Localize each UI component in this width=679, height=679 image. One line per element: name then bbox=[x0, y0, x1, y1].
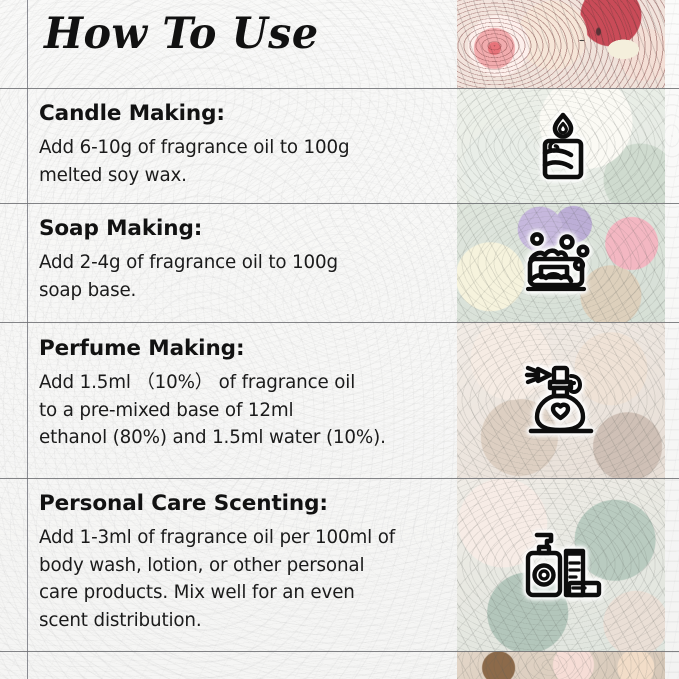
body-line: Add 1-3ml of fragrance oil per 100ml of bbox=[39, 524, 439, 552]
body-line: Add 1.5ml （10%） of fragrance oil bbox=[39, 369, 439, 397]
personal-care-products-icon bbox=[517, 522, 609, 606]
section-body-perfume-making: Add 1.5ml （10%） of fragrance oil to a pr… bbox=[39, 369, 439, 452]
divider-rule-4 bbox=[0, 478, 679, 479]
section-body-personal-care-scenting: Add 1-3ml of fragrance oil per 100ml of … bbox=[39, 524, 439, 634]
divider-rule-3 bbox=[0, 322, 679, 323]
section-soap-making: Soap Making: Add 2-4g of fragrance oil t… bbox=[39, 216, 439, 304]
section-heading-candle-making: Candle Making: bbox=[39, 101, 439, 126]
divider-rule-1 bbox=[0, 88, 679, 89]
photo-book-and-flowers bbox=[457, 651, 665, 679]
body-line: melted soy wax. bbox=[39, 162, 439, 190]
soap-bar-icon bbox=[517, 221, 609, 305]
section-heading-personal-care-scenting: Personal Care Scenting: bbox=[39, 491, 439, 516]
body-line: body wash, lotion, or other personal bbox=[39, 552, 439, 580]
perfume-bottle-icon bbox=[517, 356, 609, 440]
section-personal-care-scenting: Personal Care Scenting: Add 1-3ml of fra… bbox=[39, 491, 439, 634]
section-perfume-making: Perfume Making: Add 1.5ml （10%） of fragr… bbox=[39, 336, 439, 452]
photo-roses-and-scissors bbox=[457, 0, 665, 88]
section-candle-making: Candle Making: Add 6-10g of fragrance oi… bbox=[39, 101, 439, 189]
body-line: to a pre-mixed base of 12ml bbox=[39, 397, 439, 425]
body-line: care products. Mix well for an even bbox=[39, 579, 439, 607]
right-margin-texture bbox=[665, 0, 679, 679]
body-line: Add 2-4g of fragrance oil to 100g bbox=[39, 249, 439, 277]
left-vertical-rule bbox=[27, 0, 28, 679]
body-line: scent distribution. bbox=[39, 607, 439, 635]
body-line: ethanol (80%) and 1.5ml water (10%). bbox=[39, 424, 439, 452]
section-heading-soap-making: Soap Making: bbox=[39, 216, 439, 241]
how-to-use-infographic-card: How To Use Candle Making: Add 6-10g of f… bbox=[0, 0, 679, 679]
body-line: Add 6-10g of fragrance oil to 100g bbox=[39, 134, 439, 162]
body-line: soap base. bbox=[39, 277, 439, 305]
section-body-candle-making: Add 6-10g of fragrance oil to 100g melte… bbox=[39, 134, 439, 189]
page-title: How To Use bbox=[44, 9, 319, 59]
section-heading-perfume-making: Perfume Making: bbox=[39, 336, 439, 361]
section-body-soap-making: Add 2-4g of fragrance oil to 100g soap b… bbox=[39, 249, 439, 304]
candle-icon bbox=[517, 104, 609, 188]
divider-rule-2 bbox=[0, 203, 679, 204]
divider-rule-5 bbox=[0, 651, 679, 652]
